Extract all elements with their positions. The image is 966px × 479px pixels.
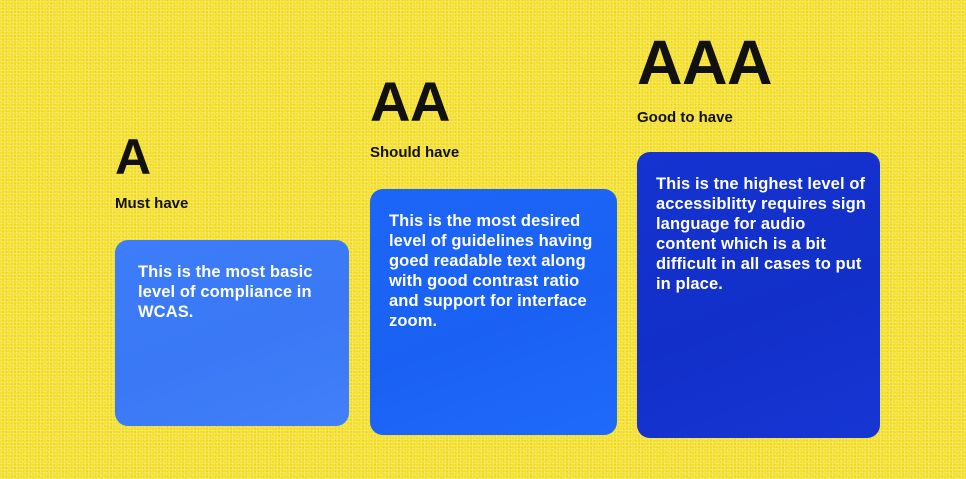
level-group-aaa: AAA Good to have This is tne highest lev… (637, 32, 887, 438)
level-label-a: Must have (115, 196, 355, 213)
level-description-aaa: This is tne highest level of accessiblit… (656, 174, 866, 294)
level-card-aa[interactable]: This is the most desired level of guidel… (370, 189, 617, 435)
level-label-aaa: Good to have (637, 110, 887, 127)
level-mark-a: A (115, 132, 355, 182)
level-group-aa: AA Should have This is the most desired … (370, 74, 625, 435)
level-mark-aaa: AAA (637, 32, 887, 95)
poster-canvas: A Must have This is the most basic level… (0, 0, 966, 479)
level-card-aaa[interactable]: This is tne highest level of accessiblit… (637, 152, 880, 438)
level-label-aa: Should have (370, 145, 625, 162)
level-card-a[interactable]: This is the most basic level of complian… (115, 240, 349, 426)
level-mark-aa: AA (370, 74, 625, 130)
level-description-a: This is the most basic level of complian… (138, 262, 330, 322)
level-description-aa: This is the most desired level of guidel… (389, 211, 600, 331)
level-group-a: A Must have This is the most basic level… (115, 132, 355, 426)
